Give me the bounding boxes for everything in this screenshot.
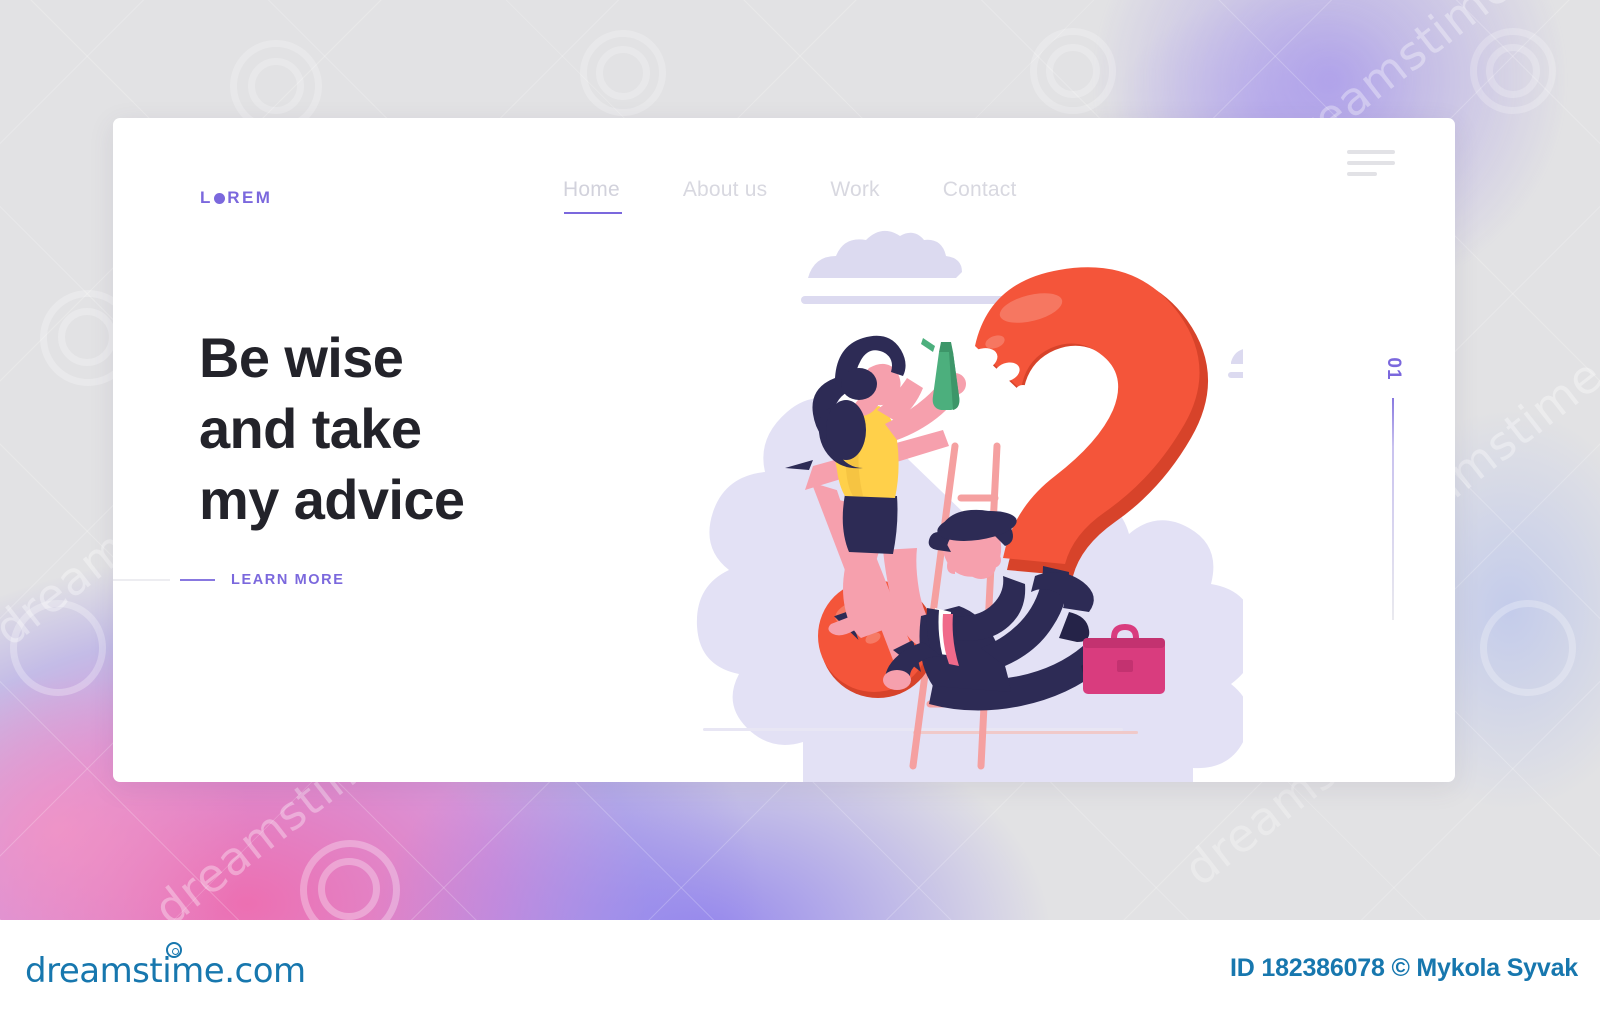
slide-index-number: 01	[1382, 354, 1404, 384]
logo-text-before: L	[200, 188, 213, 208]
cloud-shape	[801, 231, 1013, 304]
spiral-icon	[318, 858, 380, 920]
slide-index-line	[1392, 398, 1394, 620]
spiral-icon	[248, 58, 304, 114]
divider-gray	[113, 579, 170, 581]
hamburger-line	[1347, 161, 1395, 165]
headline-line-3: my advice	[199, 464, 464, 535]
page-title: Be wise and take my advice	[199, 322, 464, 535]
divider-purple	[180, 579, 215, 581]
ground-line	[703, 728, 1123, 731]
slide-index: 01	[1378, 358, 1408, 620]
dreamstime-logo-text: dreamstime.com	[25, 951, 306, 991]
hand-shape	[883, 670, 911, 690]
logo-text-after: REM	[227, 188, 272, 208]
spiral-icon	[10, 600, 106, 696]
hair-shape	[826, 400, 866, 460]
hair-shape	[841, 368, 877, 400]
headline-line-2: and take	[199, 393, 464, 464]
learn-more-link[interactable]: LEARN MORE	[113, 572, 344, 588]
cloud-shape	[1228, 332, 1243, 378]
spiral-icon	[58, 308, 116, 366]
learn-more-label: LEARN MORE	[231, 572, 344, 588]
ground-line	[913, 731, 1138, 734]
dreamstime-logo[interactable]: dreamstime.com	[25, 951, 306, 991]
spiral-icon	[166, 942, 182, 958]
spiral-icon	[1046, 44, 1100, 98]
hamburger-line	[1347, 172, 1377, 176]
spiral-icon	[1480, 600, 1576, 696]
briefcase-latch	[1117, 660, 1133, 672]
image-credit: ID 182386078 © Mykola Syvak	[1230, 954, 1578, 983]
spiral-icon	[1486, 44, 1540, 98]
circle-dot-icon	[214, 193, 225, 204]
hamburger-menu-icon[interactable]	[1347, 150, 1395, 184]
shorts-shape	[843, 494, 898, 554]
headline-line-1: Be wise	[199, 322, 464, 393]
brand-logo[interactable]: L REM	[200, 188, 272, 208]
hamburger-line	[1347, 150, 1395, 154]
question-mark-advice-illustration	[583, 146, 1243, 782]
stock-site-footer: dreamstime.com ID 182386078 © Mykola Syv…	[0, 920, 1600, 1010]
landing-page-card: L REM Home About us Work Contact Be wise…	[113, 118, 1455, 782]
spiral-icon	[596, 46, 650, 100]
